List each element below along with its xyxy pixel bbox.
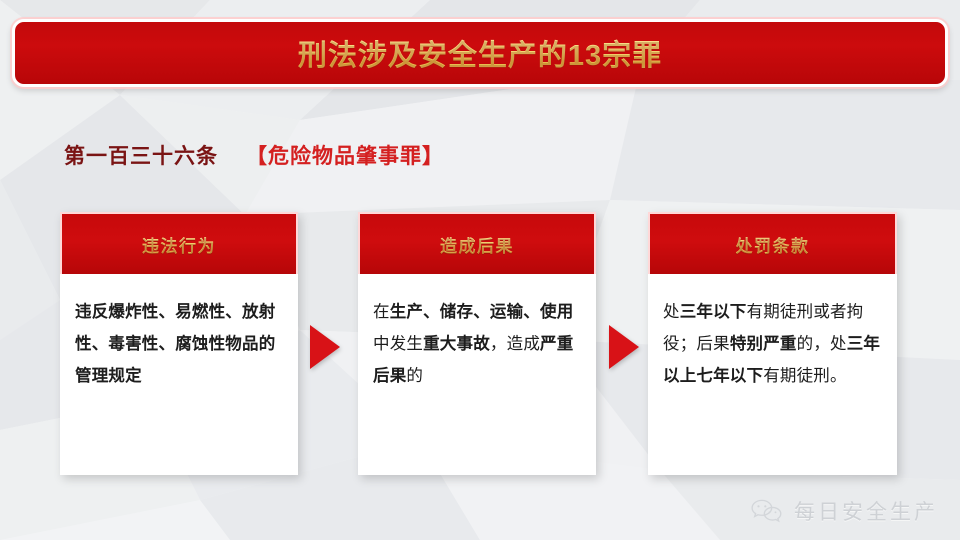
emphasis-text: 严重 xyxy=(540,335,573,353)
watermark-label: 每日安全生产 xyxy=(794,496,938,526)
card-illegal-act: 违法行为 违反爆炸性、易燃性、放射性、毒害性、腐蚀性物品的管理规定 xyxy=(60,212,298,475)
wechat-icon xyxy=(750,497,784,525)
emphasis-text: 生产、储存、运输、使用 xyxy=(390,303,574,321)
title-banner: 刑法涉及安全生产的13宗罪 xyxy=(12,19,948,87)
crime-name: 【危险物品肇事罪】 xyxy=(246,145,444,168)
card-body-penalty: 处三年以下有期徒刑或者拘役；后果特别严重的，处三年以上七年以下有期徒刑。 xyxy=(648,274,897,475)
emphasis-text: 违反爆炸性、易燃性、放射性、毒害性、腐蚀性物品的管理规定 xyxy=(75,303,275,385)
card-header-label: 违法行为 xyxy=(142,232,216,257)
body-text: 中发生 xyxy=(373,335,423,353)
card-header-penalty: 处罚条款 xyxy=(648,212,897,274)
body-text: 的 xyxy=(406,367,423,385)
card-header-consequence: 造成后果 xyxy=(358,212,596,274)
right-arrow-icon xyxy=(310,325,340,369)
card-header-illegal-act: 违法行为 xyxy=(60,212,298,274)
emphasis-text: 三年以下 xyxy=(680,303,747,321)
emphasis-text: 后果 xyxy=(373,367,406,385)
body-text: ，造成 xyxy=(490,335,540,353)
card-consequence: 造成后果 在生产、储存、运输、使用中发生重大事故，造成严重后果的 xyxy=(358,212,596,475)
body-text: 在 xyxy=(373,303,390,321)
card-penalty: 处罚条款 处三年以下有期徒刑或者拘役；后果特别严重的，处三年以上七年以下有期徒刑… xyxy=(648,212,897,475)
card-header-label: 处罚条款 xyxy=(736,232,810,257)
article-number: 第一百三十六条 xyxy=(64,145,218,168)
emphasis-text: 重大事故 xyxy=(423,335,490,353)
card-header-label: 造成后果 xyxy=(440,232,514,257)
watermark: 每日安全生产 xyxy=(750,496,938,526)
right-arrow-icon xyxy=(609,325,639,369)
emphasis-text: 特别严重 xyxy=(730,335,797,353)
body-text: 处 xyxy=(663,303,680,321)
body-text: 有期徒刑。 xyxy=(763,367,847,385)
article-subtitle: 第一百三十六条【危险物品肇事罪】 xyxy=(64,140,444,170)
page-title: 刑法涉及安全生产的13宗罪 xyxy=(298,32,662,74)
body-text: 的，处 xyxy=(797,335,847,353)
card-body-illegal-act: 违反爆炸性、易燃性、放射性、毒害性、腐蚀性物品的管理规定 xyxy=(60,274,298,475)
card-body-consequence: 在生产、储存、运输、使用中发生重大事故，造成严重后果的 xyxy=(358,274,596,475)
